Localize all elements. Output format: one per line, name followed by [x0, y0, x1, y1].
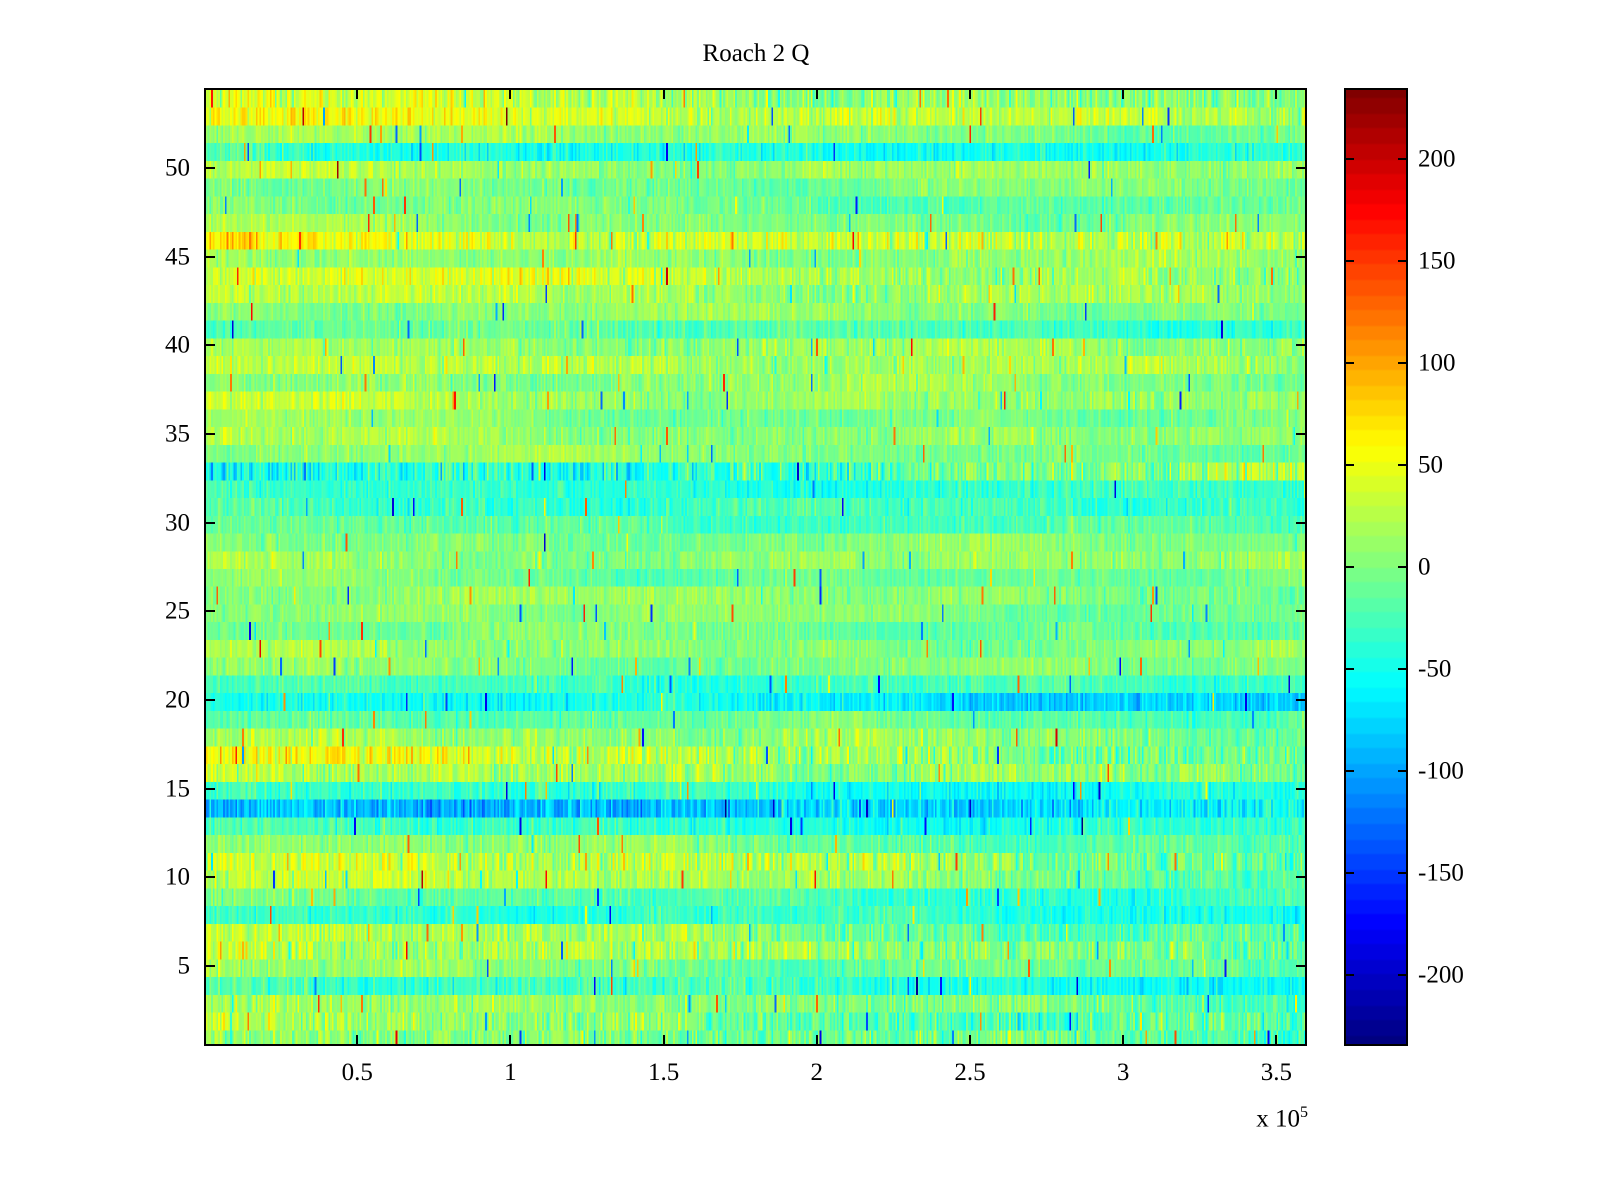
colorbar-tick-label: -150 [1418, 860, 1464, 885]
x-axis-tick-mark [969, 1035, 971, 1046]
colorbar-tick-mark-right [1398, 974, 1408, 976]
x-axis-tick-label: 1 [504, 1060, 517, 1085]
colorbar-tick-mark-right [1398, 566, 1408, 568]
x-axis-tick-label: 3 [1117, 1060, 1130, 1085]
y-axis-tick-mark-right [1296, 699, 1307, 701]
y-axis-tick-mark [204, 965, 215, 967]
colorbar-gradient [1346, 90, 1406, 1044]
colorbar-tick-label: -50 [1418, 656, 1451, 681]
x-axis-tick-label: 2.5 [954, 1060, 985, 1085]
colorbar-tick-mark [1344, 158, 1354, 160]
colorbar-tick-mark [1344, 668, 1354, 670]
x-axis-tick-mark-top [663, 88, 665, 99]
y-axis-tick-mark [204, 876, 215, 878]
colorbar-tick-mark [1344, 566, 1354, 568]
colorbar-tick-mark-right [1398, 158, 1408, 160]
colorbar-tick-mark-right [1398, 260, 1408, 262]
y-axis-tick-mark [204, 256, 215, 258]
x-axis-tick-mark [816, 1035, 818, 1046]
colorbar-tick-mark-right [1398, 770, 1408, 772]
y-axis-tick-mark [204, 522, 215, 524]
heatmap-image[interactable] [206, 90, 1307, 1046]
colorbar-tick-label: 50 [1418, 453, 1443, 478]
y-axis-tick-label: 45 [94, 244, 190, 269]
y-axis-tick-mark-right [1296, 788, 1307, 790]
y-axis-tick-mark-right [1296, 433, 1307, 435]
y-axis-tick-mark-right [1296, 876, 1307, 878]
y-axis-tick-label: 40 [94, 333, 190, 358]
y-axis-tick-label: 5 [94, 954, 190, 979]
colorbar-tick-mark [1344, 974, 1354, 976]
x-axis-exponent-power: 5 [1300, 1104, 1308, 1121]
colorbar-tick-mark [1344, 464, 1354, 466]
x-axis-tick-mark-top [1275, 88, 1277, 99]
y-axis-tick-mark [204, 610, 215, 612]
x-axis-tick-mark [356, 1035, 358, 1046]
heatmap-axes[interactable] [204, 88, 1307, 1046]
y-axis-tick-mark [204, 699, 215, 701]
page-title: Roach 2 Q [204, 41, 1308, 66]
colorbar-tick-mark-right [1398, 668, 1408, 670]
colorbar-tick-label: -200 [1418, 962, 1464, 987]
y-axis-tick-label: 50 [94, 155, 190, 180]
colorbar-tick-mark [1344, 770, 1354, 772]
y-axis-tick-mark-right [1296, 344, 1307, 346]
colorbar-tick-mark [1344, 872, 1354, 874]
y-axis-tick-mark-right [1296, 167, 1307, 169]
colorbar-tick-mark-right [1398, 872, 1408, 874]
y-axis-tick-mark-right [1296, 256, 1307, 258]
colorbar-tick-mark [1344, 362, 1354, 364]
colorbar-tick-mark-right [1398, 464, 1408, 466]
colorbar-tick-label: 100 [1418, 351, 1456, 376]
x-axis-tick-label: 0.5 [342, 1060, 373, 1085]
y-axis-tick-mark-right [1296, 522, 1307, 524]
colorbar-tick-label: 150 [1418, 249, 1456, 274]
x-axis-exponent-prefix: x 10 [1256, 1105, 1300, 1132]
y-axis-tick-mark [204, 433, 215, 435]
x-axis-exponent-label: x 105 [1256, 1105, 1308, 1131]
y-axis-tick-label: 10 [94, 865, 190, 890]
matlab-figure-window: Roach 2 Q 5101520253035404550 0.511.522.… [0, 0, 1600, 1200]
y-axis-tick-label: 25 [94, 599, 190, 624]
x-axis-tick-mark-top [969, 88, 971, 99]
x-axis-tick-mark [1275, 1035, 1277, 1046]
y-axis-tick-mark [204, 167, 215, 169]
x-axis-tick-mark [1122, 1035, 1124, 1046]
x-axis-tick-mark-top [356, 88, 358, 99]
colorbar-tick-mark-right [1398, 362, 1408, 364]
y-axis-tick-label: 35 [94, 421, 190, 446]
y-axis-tick-mark-right [1296, 965, 1307, 967]
y-axis-tick-mark [204, 788, 215, 790]
y-axis-tick-label: 20 [94, 688, 190, 713]
colorbar-tick-mark [1344, 260, 1354, 262]
y-axis-tick-label: 15 [94, 776, 190, 801]
x-axis-tick-mark-top [816, 88, 818, 99]
x-axis-tick-mark [663, 1035, 665, 1046]
x-axis-tick-label: 2 [811, 1060, 824, 1085]
colorbar-tick-label: 200 [1418, 147, 1456, 172]
x-axis-tick-label: 1.5 [648, 1060, 679, 1085]
colorbar-tick-label: 0 [1418, 555, 1431, 580]
x-axis-tick-mark-top [509, 88, 511, 99]
y-axis-tick-mark-right [1296, 610, 1307, 612]
y-axis-tick-label: 30 [94, 510, 190, 535]
x-axis-tick-mark [509, 1035, 511, 1046]
x-axis-tick-label: 3.5 [1261, 1060, 1292, 1085]
y-axis-tick-mark [204, 344, 215, 346]
colorbar-tick-label: -100 [1418, 758, 1464, 783]
x-axis-tick-mark-top [1122, 88, 1124, 99]
